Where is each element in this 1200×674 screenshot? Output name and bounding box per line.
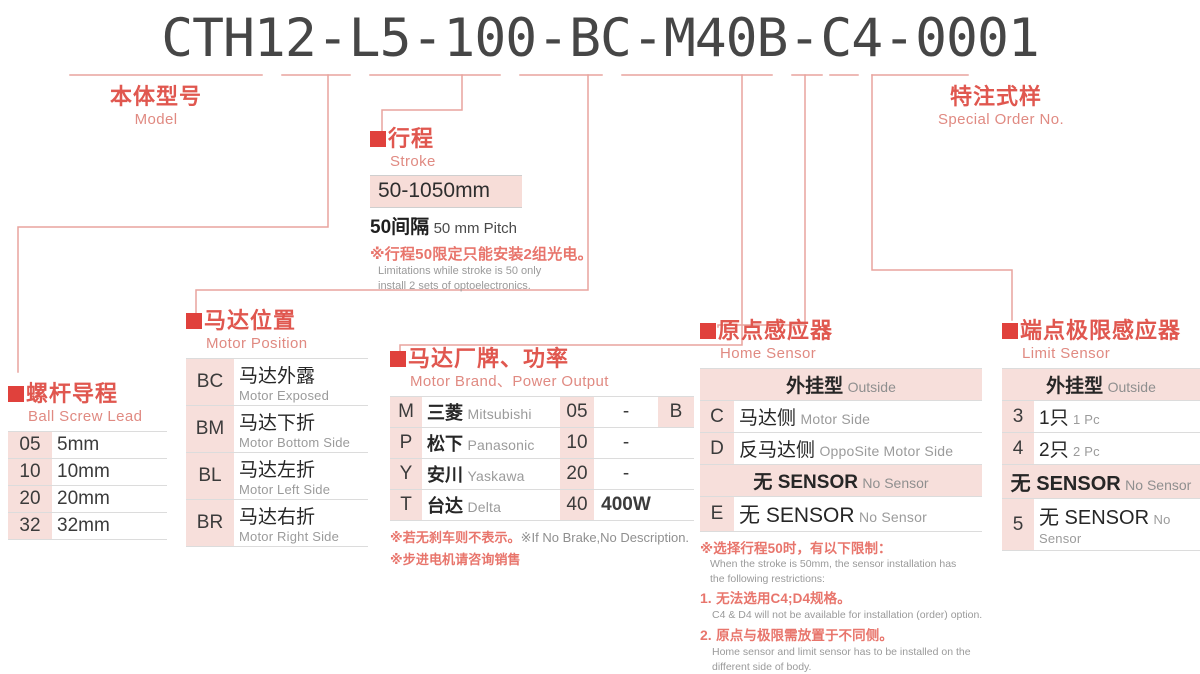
limit-sensor-title-cn: 端点极限感应器	[1020, 318, 1181, 343]
cell-code: E	[700, 497, 734, 532]
motor-brand-note-1-en: ※If No Brake,No Description.	[521, 530, 689, 545]
table-group-header-row: 无 SENSOR No Sensor	[700, 465, 982, 497]
stroke-note-en-line2: install 2 sets of optoelectronics.	[378, 279, 593, 294]
code-dash: -	[787, 8, 820, 69]
table-row[interactable]: BC 马达外露 Motor Exposed	[186, 359, 368, 406]
cell-value-cn: 反马达侧	[739, 440, 815, 461]
cell-value-cn: 2只	[1039, 440, 1069, 461]
special-order-title-en: Special Order No.	[938, 112, 1064, 127]
cell-brand-en: Yaskawa	[467, 468, 524, 484]
footnote-item-1-num: 1.	[700, 590, 712, 606]
cell-code: BL	[186, 453, 234, 500]
cell-value: 20mm	[52, 486, 167, 513]
home-sensor-heading: 原点感应器 Home Sensor	[700, 320, 982, 361]
table-row[interactable]: 3 1只 1 Pc	[1002, 401, 1200, 433]
section-stroke: 行程 Stroke 50-1050mm 50间隔 50 mm Pitch ※行程…	[370, 128, 593, 294]
cell-value: 32mm	[52, 513, 167, 540]
stroke-title-en: Stroke	[390, 154, 593, 169]
group-header-en: Outside	[848, 379, 896, 395]
table-row[interactable]: M 三菱 Mitsubishi 05 - B	[390, 397, 694, 428]
footnote-item-1-en: C4 & D4 will not be available for instal…	[712, 608, 982, 623]
table-group-header-row: 无 SENSOR No Sensor	[1002, 465, 1200, 499]
cell-brand-en: Mitsubishi	[467, 406, 531, 422]
table-row[interactable]: T 台达 Delta 40 400W	[390, 490, 694, 521]
cell-value-en: 2 Pc	[1073, 444, 1100, 459]
code-segment-motor-brand: M40B	[664, 8, 788, 69]
cell-value-cn: 马达左折	[239, 455, 363, 482]
cell-power-code: 20	[560, 459, 594, 490]
footnote-item-2-num: 2.	[700, 627, 712, 643]
cell-power-value: 400W	[594, 490, 658, 521]
special-order-title-cn: 特注式样	[950, 84, 1042, 109]
cell-brand-name: 三菱 Mitsubishi	[422, 397, 560, 428]
part-number-coding-diagram: CTH12-L5-100-BC-M40B-C4-0001	[0, 0, 1200, 605]
table-row[interactable]: BM 马达下折 Motor Bottom Side	[186, 406, 368, 453]
cell-brand-name: 安川 Yaskawa	[422, 459, 560, 490]
cell-brand-cn: 三菱	[427, 403, 463, 423]
motor-brand-title-en: Motor Brand、Power Output	[410, 374, 694, 389]
group-header-en: Outside	[1108, 379, 1156, 395]
footnote-item-1-cn: 无法选用C4;D4规格。	[716, 591, 851, 606]
stroke-pitch-en: 50 mm Pitch	[434, 220, 517, 237]
cell-value-cn: 无 SENSOR	[1039, 507, 1149, 529]
cell-value-cn: 1只	[1039, 408, 1069, 429]
special-order-heading: 特注式样 Special Order No.	[950, 86, 1064, 127]
code-dash: -	[882, 8, 915, 69]
table-row[interactable]: D 反马达侧 OppoSite Motor Side	[700, 433, 982, 465]
section-limit-sensor: 端点极限感应器 Limit Sensor 外挂型 Outside 3 1只 1 …	[1002, 320, 1200, 551]
group-header-en: No Sensor	[1125, 477, 1191, 493]
cell-brake-code	[658, 459, 694, 490]
motor-position-title-en: Motor Position	[206, 336, 368, 351]
cell-value-cn: 无 SENSOR	[739, 504, 855, 527]
cell-power-code: 10	[560, 428, 594, 459]
stroke-pitch-cn: 50间隔	[370, 217, 429, 238]
cell-code: 10	[8, 459, 52, 486]
model-heading: 本体型号 Model	[110, 86, 202, 127]
table-row[interactable]: 5 无 SENSOR No Sensor	[1002, 499, 1200, 551]
cell-value-en: Motor Bottom Side	[239, 435, 363, 450]
code-segment-model: CTH12	[161, 8, 316, 69]
table-row[interactable]: 05 5mm	[8, 432, 167, 459]
home-sensor-footnote: ※选择行程50时，有以下限制： When the stroke is 50mm,…	[700, 537, 982, 674]
product-code-line: CTH12-L5-100-BC-M40B-C4-0001	[0, 8, 1200, 69]
section-home-sensor: 原点感应器 Home Sensor 外挂型 Outside C 马达侧 Moto…	[700, 320, 982, 674]
cell-brand-en: Delta	[467, 499, 501, 515]
footnote-title-en-1: When the stroke is 50mm, the sensor inst…	[710, 557, 982, 572]
code-segment-stroke: 100	[443, 8, 536, 69]
home-sensor-title-cn: 原点感应器	[718, 318, 833, 343]
section-motor-brand: 马达厂牌、功率 Motor Brand、Power Output M 三菱 Mi…	[390, 348, 694, 569]
stroke-note-en-line1: Limitations while stroke is 50 only	[378, 264, 593, 279]
table-row[interactable]: 32 32mm	[8, 513, 167, 540]
cell-code: 20	[8, 486, 52, 513]
cell-value: 马达下折 Motor Bottom Side	[234, 406, 368, 453]
cell-value-cn: 马达侧	[739, 408, 796, 429]
motor-brand-note-1: ※若无刹车则不表示。※If No Brake,No Description.	[390, 527, 694, 547]
model-title-en: Model	[110, 112, 202, 127]
cell-value-cn: 马达下折	[239, 408, 363, 435]
code-dash: -	[631, 8, 664, 69]
cell-power-value: -	[594, 397, 658, 428]
section-motor-position: 马达位置 Motor Position BC 马达外露 Motor Expose…	[186, 310, 368, 547]
group-header-no-sensor: 无 SENSOR No Sensor	[1002, 465, 1200, 499]
table-row[interactable]: P 松下 Panasonic 10 -	[390, 428, 694, 459]
cell-code: BR	[186, 500, 234, 547]
bullet-square-icon	[1002, 323, 1018, 339]
cell-code: 4	[1002, 433, 1034, 465]
cell-value: 马达侧 Motor Side	[734, 401, 982, 433]
limit-sensor-heading: 端点极限感应器 Limit Sensor	[1002, 320, 1200, 361]
cell-brake-code	[658, 490, 694, 521]
cell-power-code: 05	[560, 397, 594, 428]
table-row[interactable]: C 马达侧 Motor Side	[700, 401, 982, 433]
cell-value-cn: 马达外露	[239, 361, 363, 388]
cell-brake-code: B	[658, 397, 694, 428]
group-header-cn: 外挂型	[786, 376, 843, 397]
cell-brand-code: T	[390, 490, 422, 521]
footnote-title-en-2: the following restrictions:	[710, 572, 982, 587]
motor-brand-note-1-cn: ※若无刹车则不表示。	[390, 530, 521, 545]
stroke-range-value: 50-1050mm	[370, 175, 522, 208]
code-dash: -	[411, 8, 444, 69]
ball-screw-lead-table: 05 5mm 10 10mm 20 20mm 32 32mm	[8, 431, 167, 540]
ball-screw-lead-title-cn: 螺杆导程	[26, 381, 118, 406]
group-header-cn: 无 SENSOR	[1011, 473, 1121, 495]
code-segment-lead: L5	[349, 8, 411, 69]
cell-value: 反马达侧 OppoSite Motor Side	[734, 433, 982, 465]
table-row[interactable]: 10 10mm	[8, 459, 167, 486]
group-header-cn: 外挂型	[1046, 376, 1103, 397]
cell-value-en: No Sensor	[859, 509, 927, 525]
footnote-item-1: 1. 无法选用C4;D4规格。	[700, 587, 982, 608]
table-row[interactable]: 20 20mm	[8, 486, 167, 513]
stroke-note-cn: ※行程50限定只能安装2组光电。	[370, 243, 593, 264]
cell-value: 无 SENSOR No Sensor	[1034, 499, 1200, 551]
group-header-outside: 外挂型 Outside	[1002, 369, 1200, 401]
cell-value-cn: 马达右折	[239, 502, 363, 529]
cell-code: D	[700, 433, 734, 465]
cell-value-en: OppoSite Motor Side	[819, 443, 953, 459]
motor-brand-title-cn: 马达厂牌、功率	[408, 346, 569, 371]
table-group-header-row: 外挂型 Outside	[700, 369, 982, 401]
cell-value-en: Motor Exposed	[239, 388, 363, 403]
footnote-item-2-en-2: different side of body.	[712, 660, 982, 674]
motor-brand-heading: 马达厂牌、功率 Motor Brand、Power Output	[390, 348, 694, 389]
group-header-outside: 外挂型 Outside	[700, 369, 982, 401]
ball-screw-lead-title-en: Ball Screw Lead	[28, 409, 167, 424]
stroke-pitch: 50间隔 50 mm Pitch	[370, 212, 593, 239]
table-row[interactable]: BR 马达右折 Motor Right Side	[186, 500, 368, 547]
code-segment-special-order: 0001	[915, 8, 1039, 69]
section-ball-screw-lead: 螺杆导程 Ball Screw Lead 05 5mm 10 10mm 20 2…	[8, 383, 167, 540]
bullet-square-icon	[8, 386, 24, 402]
table-row[interactable]: Y 安川 Yaskawa 20 -	[390, 459, 694, 490]
cell-brake-code	[658, 428, 694, 459]
table-row[interactable]: 4 2只 2 Pc	[1002, 433, 1200, 465]
cell-brand-cn: 松下	[427, 434, 463, 454]
cell-value-en: Motor Right Side	[239, 529, 363, 544]
cell-power-value: -	[594, 459, 658, 490]
cell-power-code: 40	[560, 490, 594, 521]
cell-value: 10mm	[52, 459, 167, 486]
motor-position-heading: 马达位置 Motor Position	[186, 310, 368, 351]
code-dash: -	[316, 8, 349, 69]
cell-brand-name: 台达 Delta	[422, 490, 560, 521]
cell-value: 1只 1 Pc	[1034, 401, 1200, 433]
cell-value-en: 1 Pc	[1073, 412, 1100, 427]
cell-value: 马达右折 Motor Right Side	[234, 500, 368, 547]
code-dash: -	[536, 8, 569, 69]
cell-brand-code: Y	[390, 459, 422, 490]
group-header-en: No Sensor	[862, 475, 928, 491]
cell-power-value: -	[594, 428, 658, 459]
section-model: 本体型号 Model	[110, 86, 202, 127]
motor-brand-table: M 三菱 Mitsubishi 05 - B P 松下 Panasonic 10…	[390, 396, 694, 521]
cell-code: 5	[1002, 499, 1034, 551]
cell-value: 马达左折 Motor Left Side	[234, 453, 368, 500]
code-segment-home-sensor: C4	[820, 8, 882, 69]
limit-sensor-title-en: Limit Sensor	[1022, 346, 1200, 361]
footnote-item-2: 2. 原点与极限需放置于不同侧。	[700, 624, 982, 645]
cell-brand-en: Panasonic	[467, 437, 534, 453]
footnote-item-2-cn: 原点与极限需放置于不同侧。	[716, 628, 893, 643]
home-sensor-table: 外挂型 Outside C 马达侧 Motor Side D 反马达侧 Oppo…	[700, 368, 982, 532]
motor-position-table: BC 马达外露 Motor Exposed BM 马达下折 Motor Bott…	[186, 358, 368, 547]
cell-value-en: Motor Side	[800, 411, 870, 427]
cell-value: 2只 2 Pc	[1034, 433, 1200, 465]
model-title-cn: 本体型号	[110, 84, 202, 109]
table-group-header-row: 外挂型 Outside	[1002, 369, 1200, 401]
limit-sensor-table: 外挂型 Outside 3 1只 1 Pc 4 2只 2 Pc	[1002, 368, 1200, 551]
cell-code: 05	[8, 432, 52, 459]
cell-code: BC	[186, 359, 234, 406]
bullet-square-icon	[390, 351, 406, 367]
cell-value-en: Motor Left Side	[239, 482, 363, 497]
stroke-title-cn: 行程	[388, 126, 434, 151]
ball-screw-lead-heading: 螺杆导程 Ball Screw Lead	[8, 383, 167, 424]
cell-brand-code: M	[390, 397, 422, 428]
motor-position-title-cn: 马达位置	[204, 308, 296, 333]
footnote-item-2-en-1: Home sensor and limit sensor has to be i…	[712, 645, 982, 660]
cell-code: 3	[1002, 401, 1034, 433]
table-row[interactable]: E 无 SENSOR No Sensor	[700, 497, 982, 532]
bullet-square-icon	[186, 313, 202, 329]
cell-code: 32	[8, 513, 52, 540]
cell-code: C	[700, 401, 734, 433]
footnote-title-cn: ※选择行程50时，有以下限制：	[700, 537, 982, 557]
cell-code: BM	[186, 406, 234, 453]
cell-value: 5mm	[52, 432, 167, 459]
cell-brand-cn: 安川	[427, 465, 463, 485]
group-header-cn: 无 SENSOR	[753, 472, 858, 493]
stroke-heading: 行程 Stroke	[370, 128, 593, 169]
cell-value: 无 SENSOR No Sensor	[734, 497, 982, 532]
cell-brand-cn: 台达	[427, 496, 463, 516]
motor-brand-note-2: ※步进电机请咨询销售	[390, 549, 694, 569]
home-sensor-title-en: Home Sensor	[720, 346, 982, 361]
table-row[interactable]: BL 马达左折 Motor Left Side	[186, 453, 368, 500]
bullet-square-icon	[700, 323, 716, 339]
bullet-square-icon	[370, 131, 386, 147]
cell-brand-name: 松下 Panasonic	[422, 428, 560, 459]
code-segment-motor-position: BC	[569, 8, 631, 69]
cell-brand-code: P	[390, 428, 422, 459]
section-special-order: 特注式样 Special Order No.	[950, 86, 1064, 127]
motor-brand-note-2-cn: ※步进电机请咨询销售	[390, 552, 521, 567]
group-header-no-sensor: 无 SENSOR No Sensor	[700, 465, 982, 497]
cell-value: 马达外露 Motor Exposed	[234, 359, 368, 406]
